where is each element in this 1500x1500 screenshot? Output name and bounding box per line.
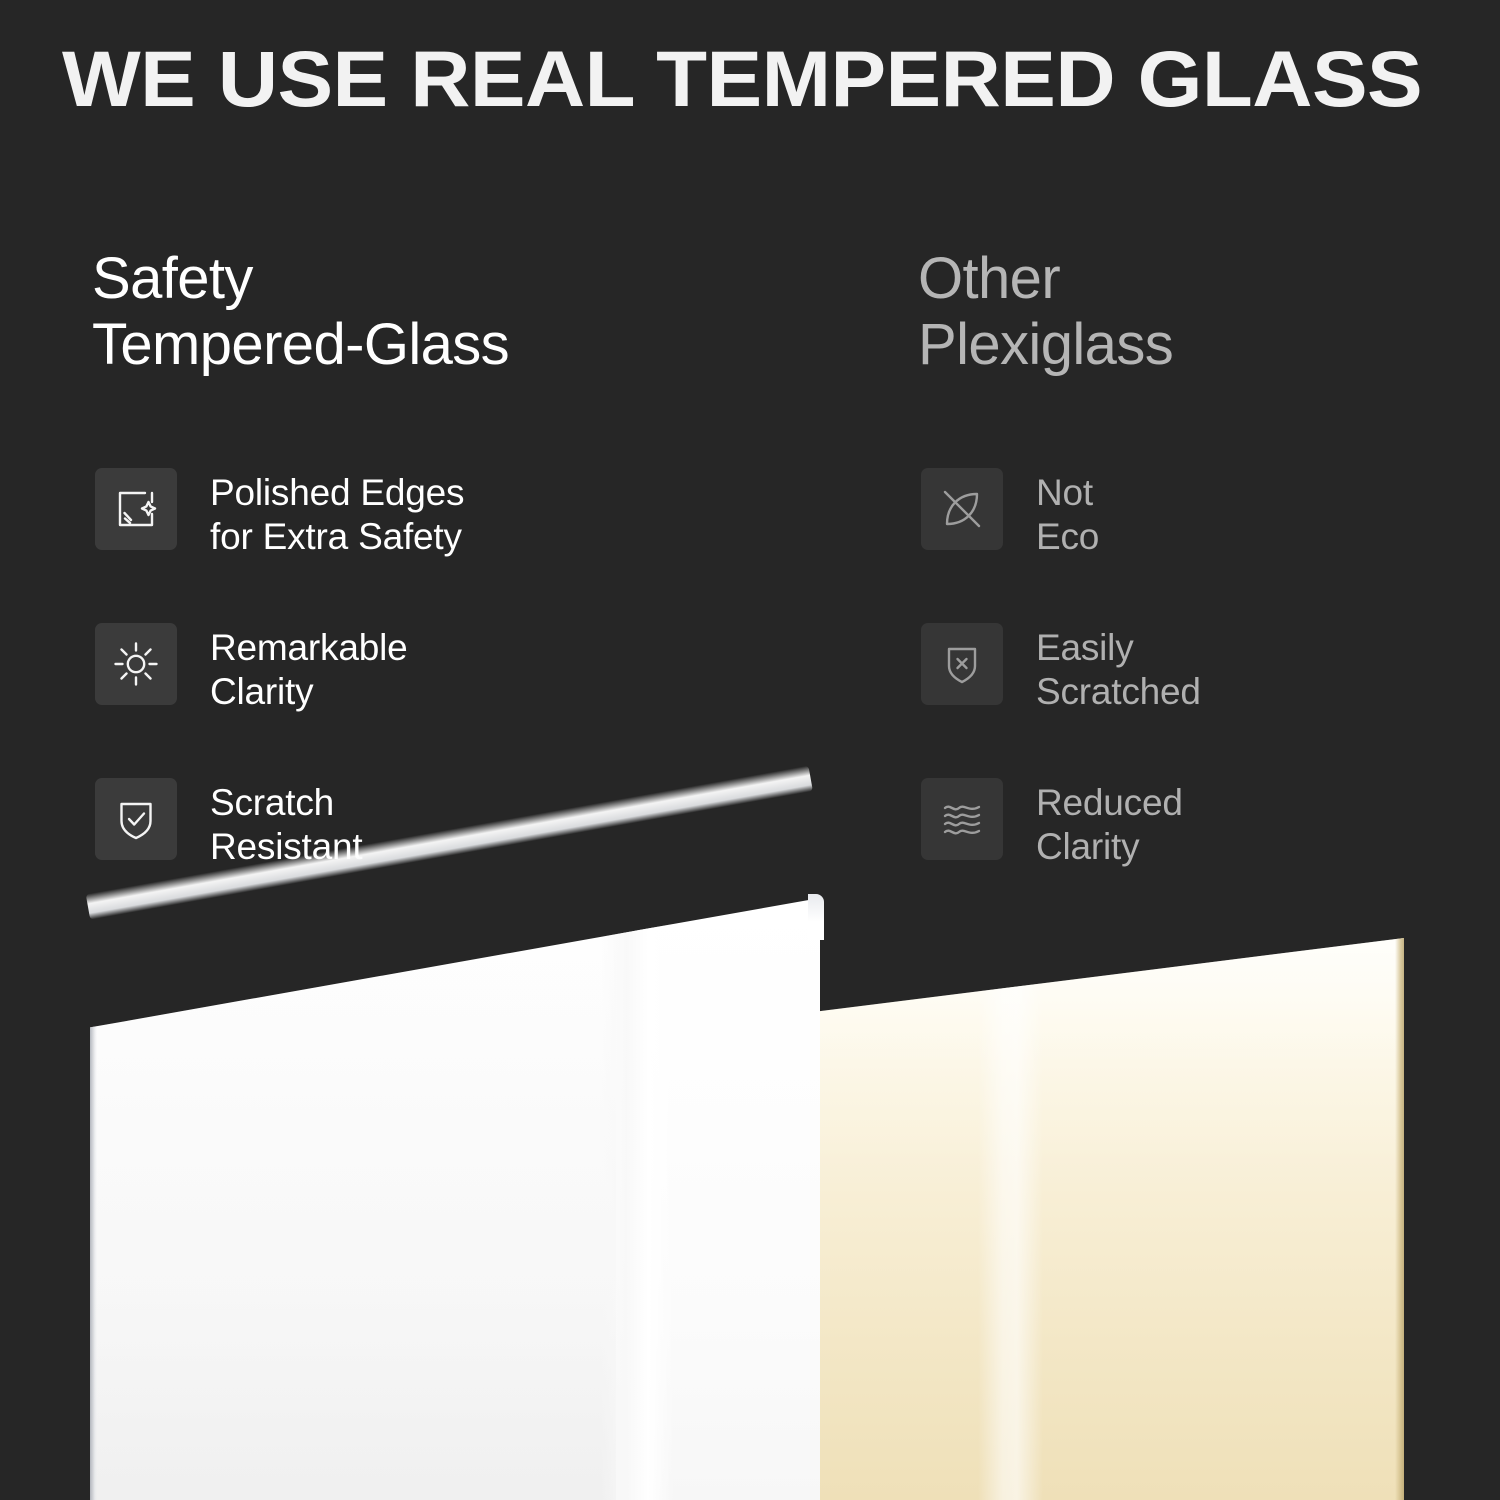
feature-item: Polished Edges for Extra Safety	[95, 468, 855, 560]
white-tempered-glass-panel	[90, 898, 820, 1500]
glass-reflection-band	[601, 898, 674, 1500]
column-safety-tempered-glass: Safety Tempered-Glass Polished Edges for…	[92, 246, 852, 378]
feature-label: Scratch Resistant	[210, 778, 362, 870]
shield-x-icon	[921, 623, 1003, 705]
feature-item: Reduced Clarity	[921, 778, 1481, 870]
feature-label: Easily Scratched	[1036, 623, 1201, 715]
glass-surface-shade	[90, 898, 616, 1500]
product-panels	[0, 880, 1500, 1500]
polished-edge-sparkle-icon	[95, 468, 177, 550]
feature-list-left: Polished Edges for Extra Safety Remarkab…	[95, 468, 855, 869]
leaf-crossed-out-icon	[921, 468, 1003, 550]
column-heading-right: Other Plexiglass	[918, 246, 1478, 378]
glass-left-edge	[90, 898, 97, 1500]
column-heading-left: Safety Tempered-Glass	[92, 246, 852, 378]
wavy-lines-icon	[921, 778, 1003, 860]
plexi-reflection-band	[978, 938, 1043, 1500]
feature-label: Polished Edges for Extra Safety	[210, 468, 464, 560]
plexi-right-edge	[1395, 938, 1404, 1500]
feature-item: Easily Scratched	[921, 623, 1481, 715]
page-title: WE USE REAL TEMPERED GLASS	[62, 38, 1500, 121]
feature-item: Remarkable Clarity	[95, 623, 855, 715]
column-other-plexiglass: Other Plexiglass Not Eco	[918, 246, 1478, 378]
cream-plexiglass-panel	[812, 938, 1404, 1500]
feature-item: Not Eco	[921, 468, 1481, 560]
shield-check-icon	[95, 778, 177, 860]
plexi-top-glow	[812, 938, 1404, 1197]
feature-label: Remarkable Clarity	[210, 623, 407, 715]
feature-item: Scratch Resistant	[95, 778, 855, 870]
feature-list-right: Not Eco Easily Scratched	[921, 468, 1481, 869]
infographic-canvas: WE USE REAL TEMPERED GLASS Safety Temper…	[0, 0, 1500, 1500]
sun-brightness-icon	[95, 623, 177, 705]
feature-label: Not Eco	[1036, 468, 1099, 560]
feature-label: Reduced Clarity	[1036, 778, 1183, 870]
